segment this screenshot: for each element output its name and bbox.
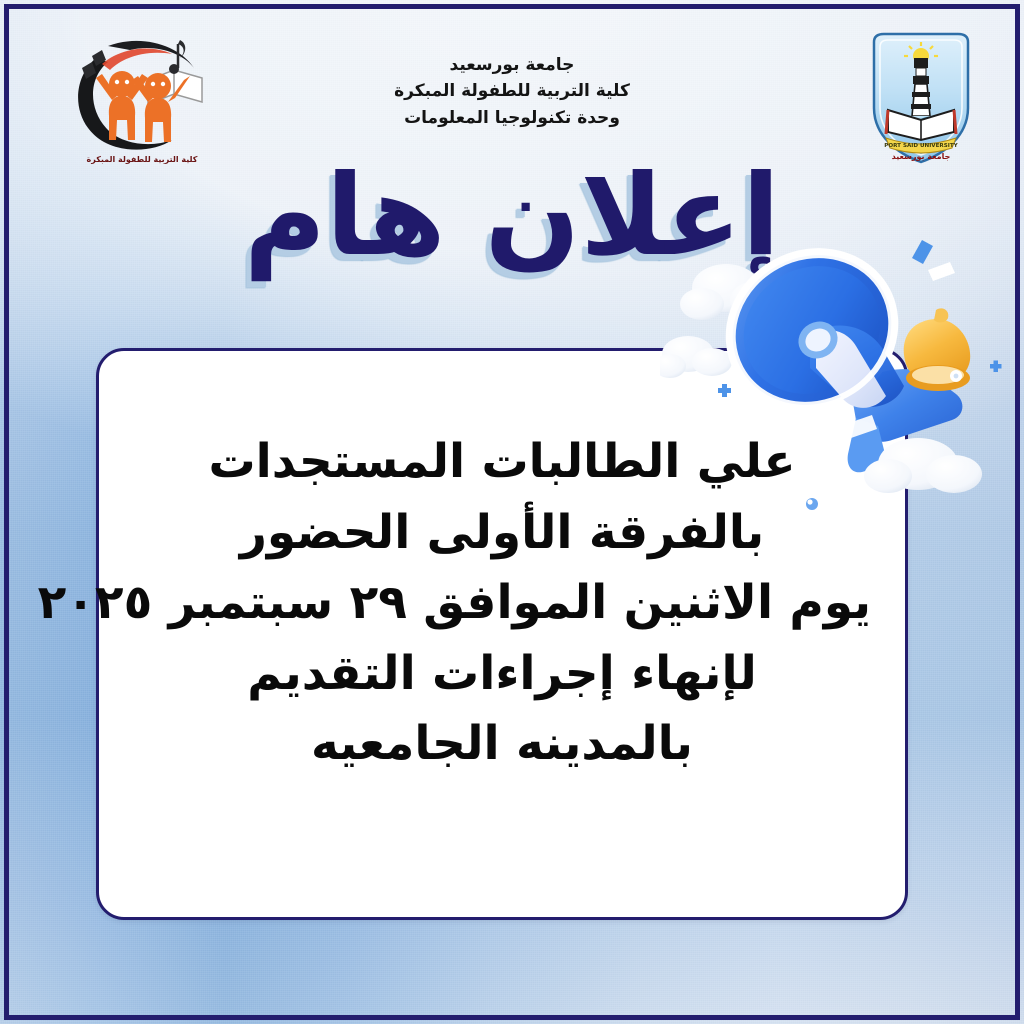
announcement-line-1: علي الطالبات المستجدات <box>133 427 871 498</box>
svg-text:PORT SAID UNIVERSITY: PORT SAID UNIVERSITY <box>884 143 958 149</box>
page-title: إعلان هام <box>0 158 1024 276</box>
poster-header: كلية التربية للطفولة المبكرة جامعة بورسع… <box>0 0 1024 175</box>
announcement-line-4: لإنهاء إجراءات التقديم <box>133 639 871 710</box>
port-said-university-crest: PORT SAID UNIVERSITY جامعة بورسعيد <box>866 28 976 168</box>
announcement-line-2: بالفرقة الأولى الحضور <box>133 498 871 569</box>
announcement-card: علي الطالبات المستجدات بالفرقة الأولى ال… <box>96 348 908 920</box>
announcement-line-5-location: بالمدينه الجامعيه <box>133 709 871 780</box>
announcement-body: علي الطالبات المستجدات بالفرقة الأولى ال… <box>133 427 871 780</box>
announcement-poster: كلية التربية للطفولة المبكرة جامعة بورسع… <box>0 0 1024 1024</box>
megaphone-bell <box>904 308 971 391</box>
announcement-line-3-date: يوم الاثنين الموافق ٢٩ سبتمبر ٢٠٢٥ <box>133 568 871 639</box>
page-title-text: إعلان هام <box>244 158 780 276</box>
